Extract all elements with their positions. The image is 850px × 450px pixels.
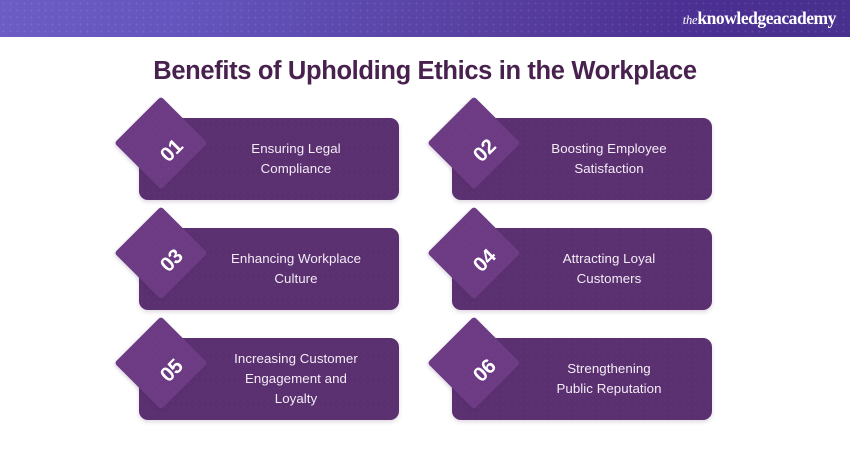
- benefit-card-03[interactable]: 03 Enhancing Workplace Culture: [139, 228, 399, 310]
- benefits-card-grid: 01 Ensuring Legal Compliance 02 Boosting…: [0, 104, 850, 434]
- benefit-card-04[interactable]: 04 Attracting Loyal Customers: [452, 228, 712, 310]
- page-title: Benefits of Upholding Ethics in the Work…: [0, 57, 850, 86]
- brand-logo: theknowledgeacademy: [683, 10, 836, 28]
- benefit-card-06[interactable]: 06 Strengthening Public Reputation: [452, 338, 712, 420]
- benefit-card-05[interactable]: 05 Increasing Customer Engagement and Lo…: [139, 338, 399, 420]
- brand-logo-prefix: the: [683, 13, 698, 27]
- benefit-card-label: Ensuring Legal Compliance: [201, 118, 391, 200]
- benefit-card-label: Strengthening Public Reputation: [514, 338, 704, 420]
- benefit-card-label: Attracting Loyal Customers: [514, 228, 704, 310]
- benefit-card-label: Boosting Employee Satisfaction: [514, 118, 704, 200]
- benefit-card-label: Increasing Customer Engagement and Loyal…: [201, 338, 391, 420]
- benefit-card-02[interactable]: 02 Boosting Employee Satisfaction: [452, 118, 712, 200]
- brand-logo-name: knowledgeacademy: [697, 8, 836, 28]
- benefit-card-label: Enhancing Workplace Culture: [201, 228, 391, 310]
- benefit-card-01[interactable]: 01 Ensuring Legal Compliance: [139, 118, 399, 200]
- header-bar: theknowledgeacademy: [0, 0, 850, 37]
